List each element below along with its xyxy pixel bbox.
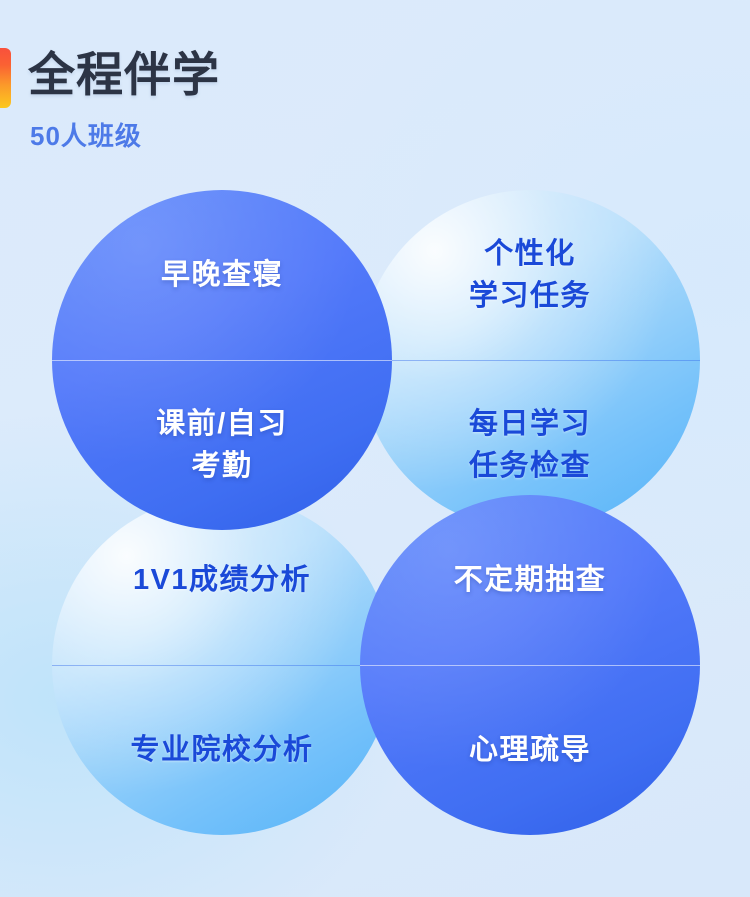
promo-banner: 全程伴学 50人班级 早晚查寝 课前/自习 考勤 个性化 学习任务 每日学习 任… xyxy=(0,0,750,897)
feature-circle-bottom-right[interactable]: 不定期抽查 心理疏导 xyxy=(360,495,700,835)
accent-bar xyxy=(0,48,11,108)
feature-label: 个性化 xyxy=(484,233,576,275)
feature-circle-top-right[interactable]: 个性化 学习任务 每日学习 任务检查 xyxy=(360,190,700,530)
feature-label: 专业院校分析 xyxy=(130,729,313,771)
feature-circle-top-left[interactable]: 早晚查寝 课前/自习 考勤 xyxy=(52,190,392,530)
feature-circle-top-left-lower: 课前/自习 考勤 xyxy=(52,361,392,531)
feature-circle-bottom-right-lower: 心理疏导 xyxy=(360,666,700,836)
feature-label: 1V1成绩分析 xyxy=(133,559,311,601)
feature-label: 每日学习 xyxy=(469,403,591,445)
feature-label: 不定期抽查 xyxy=(454,559,607,601)
feature-label: 早晚查寝 xyxy=(161,254,283,296)
feature-circle-bottom-left-lower: 专业院校分析 xyxy=(52,666,392,836)
page-title: 全程伴学 xyxy=(28,44,220,106)
feature-circle-top-left-upper: 早晚查寝 xyxy=(52,190,392,360)
feature-circle-bottom-left[interactable]: 1V1成绩分析 专业院校分析 xyxy=(52,495,392,835)
feature-label: 心理疏导 xyxy=(469,729,591,771)
feature-label: 课前/自习 xyxy=(156,403,288,445)
feature-label: 学习任务 xyxy=(469,275,591,317)
feature-label: 任务检查 xyxy=(469,445,591,487)
feature-circle-bottom-right-upper: 不定期抽查 xyxy=(360,495,700,665)
page-subtitle: 50人班级 xyxy=(30,118,142,154)
feature-circle-top-right-upper: 个性化 学习任务 xyxy=(360,190,700,360)
feature-label: 考勤 xyxy=(191,445,252,487)
